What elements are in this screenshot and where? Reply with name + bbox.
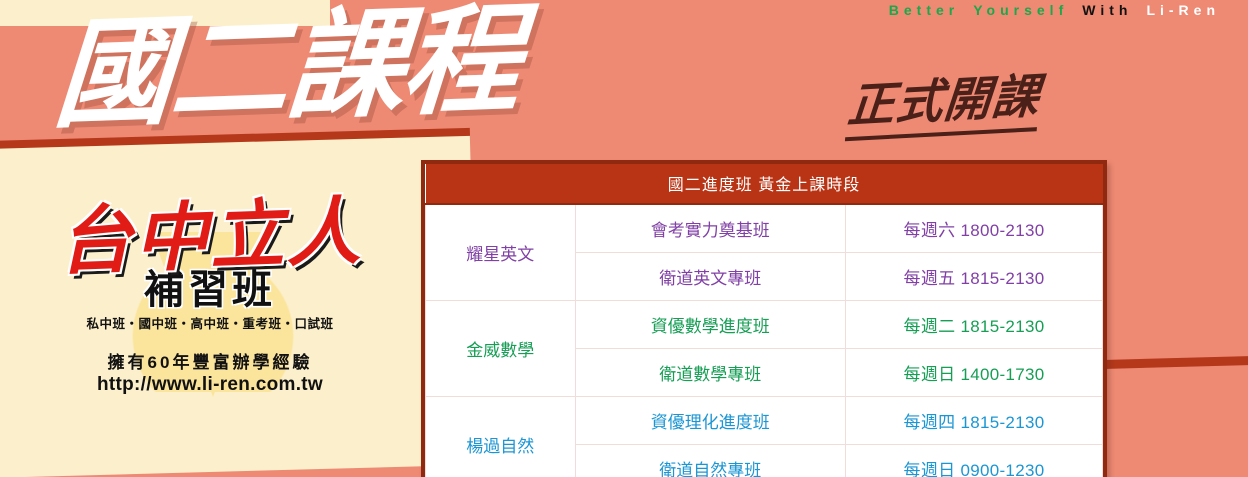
logo-experience: 擁有60年豐富辦學經驗 [30,348,390,373]
course-name-cell: 資優數學進度班 [575,301,845,349]
schedule-table-container: 國二進度班 黃金上課時段 耀星英文會考實力奠基班每週六 1800-2130衛道英… [421,160,1107,477]
teacher-cell: 耀星英文 [426,204,576,301]
logo-name: 台中立人 [29,194,391,281]
banner-stage: BetterYourselfWithLi-Ren 國二課程 正式開課 台中立人 … [0,0,1248,477]
tagline-word-yourself: Yourself [973,2,1068,18]
course-time-cell: 每週日 1400-1730 [845,349,1102,397]
schedule-table-head: 國二進度班 黃金上課時段 [426,164,1103,204]
page-title: 國二課程 [51,0,523,134]
table-row: 耀星英文會考實力奠基班每週六 1800-2130 [426,204,1103,253]
course-time-cell: 每週六 1800-2130 [845,204,1102,253]
course-time-cell: 每週二 1815-2130 [845,301,1102,349]
course-time-cell: 每週日 0900-1230 [845,445,1102,477]
tagline-word-better: Better [889,2,959,18]
schedule-table-body: 耀星英文會考實力奠基班每週六 1800-2130衛道英文專班每週五 1815-2… [426,204,1103,477]
table-row: 金威數學資優數學進度班每週二 1815-2130 [426,301,1103,349]
schedule-header-title: 國二進度班 黃金上課時段 [426,164,1103,204]
brand-tagline: BetterYourselfWithLi-Ren [889,2,1234,18]
logo-website-url[interactable]: http://www.li-ren.com.tw [30,374,390,396]
tagline-word-liren: Li-Ren [1146,2,1220,18]
school-logo[interactable]: 台中立人 補習班 私中班・國中班・高中班・重考班・口試班 擁有60年豐富辦學經驗… [30,196,390,426]
logo-class-types: 私中班・國中班・高中班・重考班・口試班 [30,313,390,332]
teacher-cell: 金威數學 [426,301,576,397]
course-name-cell: 衛道數學專班 [575,349,845,397]
course-name-cell: 會考實力奠基班 [575,204,845,253]
table-row: 楊過自然資優理化進度班每週四 1815-2130 [426,397,1103,445]
course-name-cell: 資優理化進度班 [575,397,845,445]
teacher-cell: 楊過自然 [426,397,576,477]
course-name-cell: 衛道自然專班 [575,445,845,477]
schedule-header-row: 國二進度班 黃金上課時段 [426,164,1103,204]
subtitle-badge: 正式開課 [845,57,1043,141]
schedule-table: 國二進度班 黃金上課時段 耀星英文會考實力奠基班每週六 1800-2130衛道英… [425,164,1103,477]
tagline-word-with: With [1082,2,1132,18]
course-time-cell: 每週四 1815-2130 [845,397,1102,445]
course-time-cell: 每週五 1815-2130 [845,253,1102,301]
course-name-cell: 衛道英文專班 [575,253,845,301]
